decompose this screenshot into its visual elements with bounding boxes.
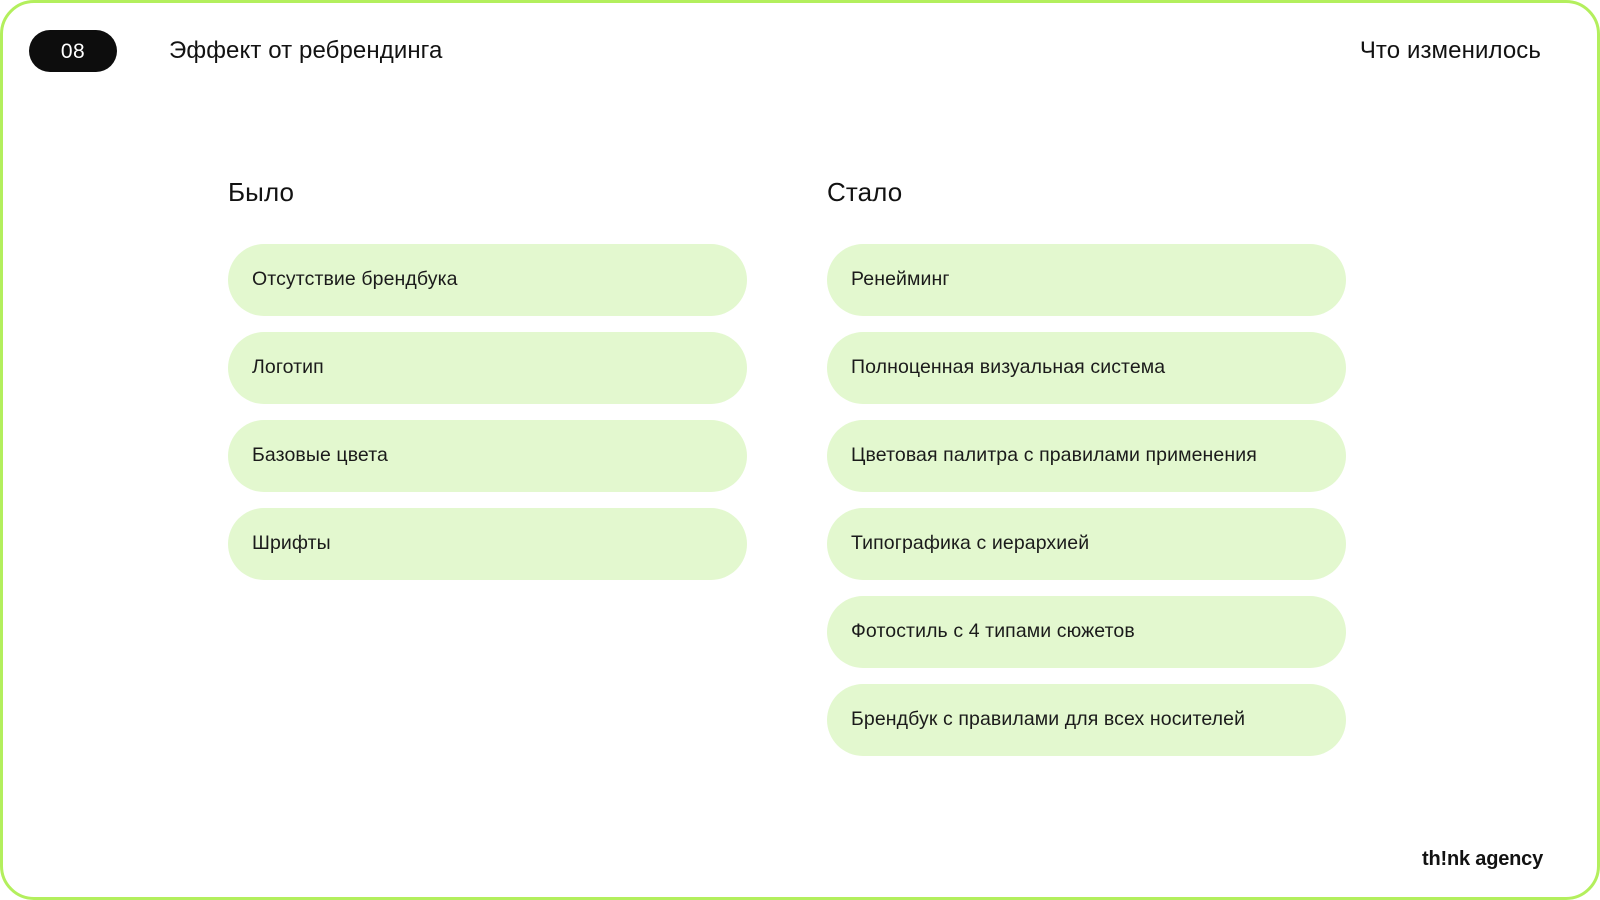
column-before: Было Отсутствие брендбука Логотип Базовы… [228, 178, 747, 756]
slide-number-label: 08 [61, 41, 85, 62]
list-item: Шрифты [228, 508, 747, 580]
card-label: Типографика с иерархией [851, 531, 1089, 555]
section-kicker: Что изменилось [1360, 37, 1541, 65]
slide-header: 08 Эффект от ребрендинга Что изменилось [3, 3, 1597, 99]
list-item: Базовые цвета [228, 420, 747, 492]
list-item: Брендбук с правилами для всех носителей [827, 684, 1346, 756]
column-after: Стало Ренейминг Полноценная визуальная с… [827, 178, 1346, 756]
card-label: Полноценная визуальная система [851, 355, 1165, 379]
list-item: Ренейминг [827, 244, 1346, 316]
list-item: Отсутствие брендбука [228, 244, 747, 316]
list-item: Полноценная визуальная система [827, 332, 1346, 404]
slide-number-badge: 08 [29, 30, 117, 72]
card-label: Брендбук с правилами для всех носителей [851, 707, 1245, 731]
card-label: Логотип [252, 355, 324, 379]
list-item: Логотип [228, 332, 747, 404]
card-label: Фотостиль с 4 типами сюжетов [851, 619, 1135, 643]
list-item: Типографика с иерархией [827, 508, 1346, 580]
slide: 08 Эффект от ребрендинга Что изменилось … [0, 0, 1600, 900]
page-title: Эффект от ребрендинга [169, 37, 442, 65]
column-title-after: Стало [827, 178, 1346, 207]
comparison-columns: Было Отсутствие брендбука Логотип Базовы… [228, 178, 1346, 756]
list-item: Фотостиль с 4 типами сюжетов [827, 596, 1346, 668]
brand-logo: th!nk agency [1422, 849, 1543, 869]
card-label: Ренейминг [851, 267, 950, 291]
card-list-after: Ренейминг Полноценная визуальная система… [827, 244, 1346, 756]
card-label: Базовые цвета [252, 443, 388, 467]
card-list-before: Отсутствие брендбука Логотип Базовые цве… [228, 244, 747, 580]
card-label: Цветовая палитра с правилами применения [851, 443, 1257, 467]
list-item: Цветовая палитра с правилами применения [827, 420, 1346, 492]
column-title-before: Было [228, 178, 747, 207]
card-label: Шрифты [252, 531, 331, 555]
card-label: Отсутствие брендбука [252, 267, 458, 291]
